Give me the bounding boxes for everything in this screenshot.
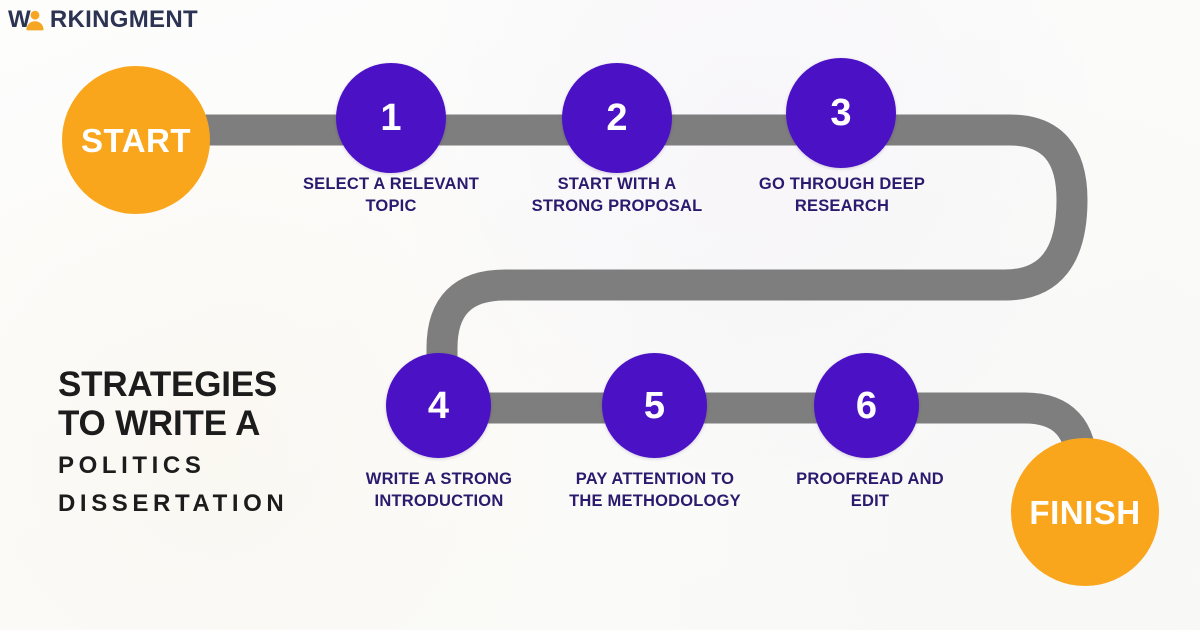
step-label-5: PAY ATTENTION TO THE METHODOLOGY — [562, 468, 748, 513]
node-step-5[interactable]: 5 — [602, 353, 707, 458]
headline-line-4: DISSERTATION — [58, 489, 388, 519]
step-label-6: PROOFREAD AND EDIT — [776, 468, 964, 513]
headline-line-2: TO WRITE A — [58, 404, 388, 443]
node-step-5-number: 5 — [644, 387, 665, 425]
node-step-1[interactable]: 1 — [336, 63, 446, 173]
step-label-2: START WITH A STRONG PROPOSAL — [527, 173, 707, 218]
headline-line-1: STRATEGIES — [58, 365, 388, 404]
node-step-6[interactable]: 6 — [814, 353, 919, 458]
step-label-1: SELECT A RELEVANT TOPIC — [291, 173, 491, 218]
node-step-2[interactable]: 2 — [562, 63, 672, 173]
node-step-4[interactable]: 4 — [386, 353, 491, 458]
step-label-3: GO THROUGH DEEP RESEARCH — [746, 173, 938, 218]
node-start-label: START — [81, 124, 191, 157]
node-step-6-number: 6 — [856, 387, 877, 425]
infographic-canvas: WORKINGMENT START 1 SELECT A RELEVANT TO… — [0, 0, 1200, 630]
node-step-1-number: 1 — [380, 99, 401, 137]
node-start[interactable]: START — [62, 66, 210, 214]
node-finish[interactable]: FINISH — [1011, 438, 1159, 586]
node-finish-label: FINISH — [1029, 496, 1140, 529]
node-step-4-number: 4 — [428, 387, 449, 425]
page-title: STRATEGIES TO WRITE A POLITICS DISSERTAT… — [58, 365, 388, 519]
headline-line-3: POLITICS — [58, 451, 388, 481]
node-step-2-number: 2 — [606, 99, 627, 137]
node-step-3-number: 3 — [830, 94, 851, 132]
node-step-3[interactable]: 3 — [786, 58, 896, 168]
